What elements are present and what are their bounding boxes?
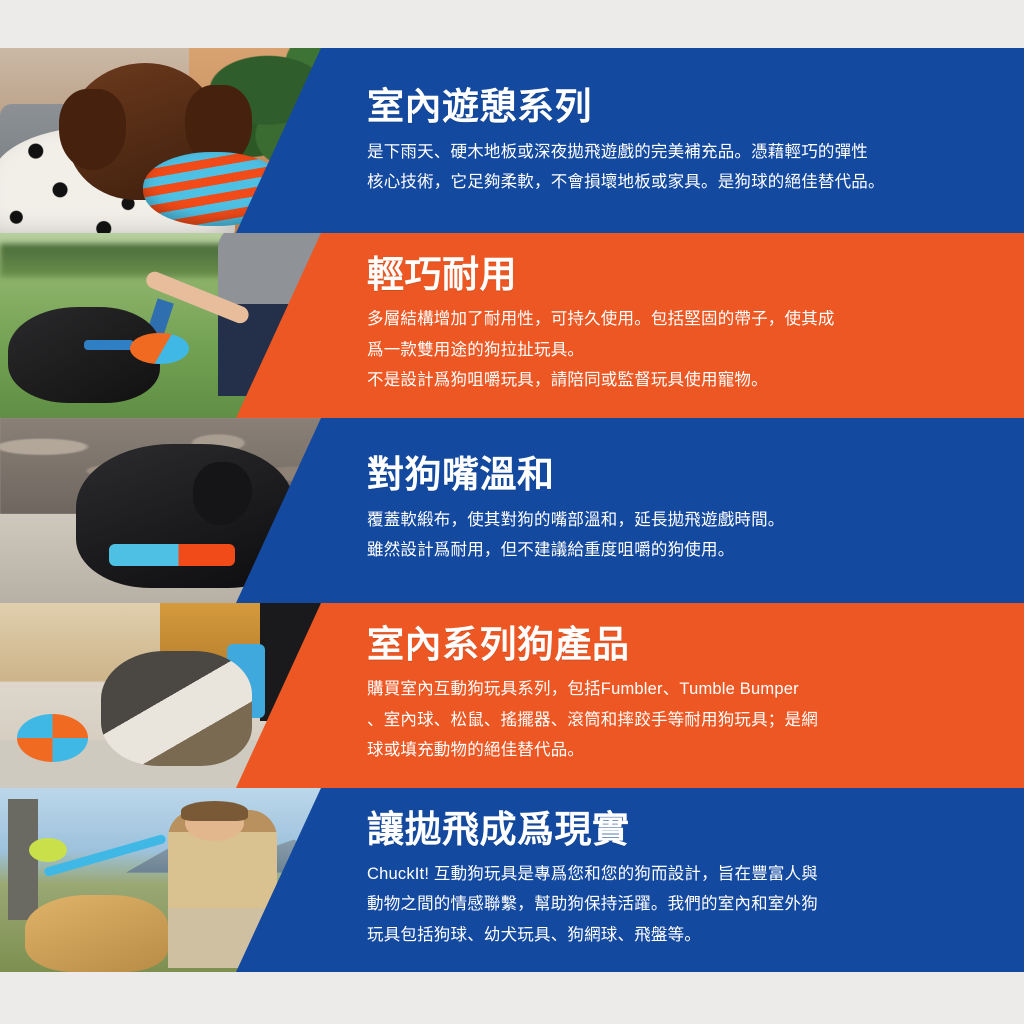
feature-content-indoor-series-dog-products: 室內系列狗產品 購買室內互動狗玩具系列，包括Fumbler、Tumble Bum…: [345, 603, 1006, 788]
feature-body: 是下雨天、硬木地板或深夜拋飛遊戲的完美補充品。憑藉輕巧的彈性 核心技術，它足夠柔…: [367, 137, 1006, 198]
feature-body-line: 核心技術，它足夠柔軟，不會損壞地板或家具。是狗球的絕佳替代品。: [367, 167, 1006, 198]
feature-body: ChuckIt! 互動狗玩具是專爲您和您的狗而設計，旨在豐富人與 動物之間的情感…: [367, 859, 1006, 951]
feature-body-line: ChuckIt! 互動狗玩具是專爲您和您的狗而設計，旨在豐富人與: [367, 859, 1006, 890]
feature-panel-list: 室內遊憩系列 是下雨天、硬木地板或深夜拋飛遊戲的完美補充品。憑藉輕巧的彈性 核心…: [0, 48, 1024, 972]
feature-content-gentle-on-mouth: 對狗嘴溫和 覆蓋軟緞布，使其對狗的嘴部溫和，延長拋飛遊戲時間。 雖然設計爲耐用，…: [345, 418, 1006, 603]
feature-title: 讓拋飛成爲現實: [367, 810, 1006, 849]
feature-body-line: 覆蓋軟緞布，使其對狗的嘴部溫和，延長拋飛遊戲時間。: [367, 505, 1006, 536]
feature-body: 購買室內互動狗玩具系列，包括Fumbler、Tumble Bumper 、室內球…: [367, 674, 1006, 766]
feature-title: 室內系列狗產品: [367, 625, 1006, 664]
feature-title: 輕巧耐用: [367, 255, 1006, 294]
feature-row-gentle-on-mouth: 對狗嘴溫和 覆蓋軟緞布，使其對狗的嘴部溫和，延長拋飛遊戲時間。 雖然設計爲耐用，…: [0, 418, 1024, 603]
feature-content-lightweight-durable: 輕巧耐用 多層結構增加了耐用性，可持久使用。包括堅固的帶子，使其成 爲一款雙用途…: [345, 233, 1006, 418]
feature-body-line: 不是設計爲狗咀嚼玩具，請陪同或監督玩具使用寵物。: [367, 365, 1006, 396]
feature-title: 室內遊憩系列: [367, 87, 1006, 126]
feature-body: 多層結構增加了耐用性，可持久使用。包括堅固的帶子，使其成 爲一款雙用途的狗拉扯玩…: [367, 304, 1006, 396]
feature-row-indoor-series-dog-products: 室內系列狗產品 購買室內互動狗玩具系列，包括Fumbler、Tumble Bum…: [0, 603, 1024, 788]
feature-content-indoor-play-series: 室內遊憩系列 是下雨天、硬木地板或深夜拋飛遊戲的完美補充品。憑藉輕巧的彈性 核心…: [345, 48, 1006, 233]
feature-row-lightweight-durable: 輕巧耐用 多層結構增加了耐用性，可持久使用。包括堅固的帶子，使其成 爲一款雙用途…: [0, 233, 1024, 418]
feature-body-line: 爲一款雙用途的狗拉扯玩具。: [367, 335, 1006, 366]
feature-body-line: 、室內球、松鼠、搖擺器、滾筒和摔跤手等耐用狗玩具；是網: [367, 705, 1006, 736]
feature-body-line: 多層結構增加了耐用性，可持久使用。包括堅固的帶子，使其成: [367, 304, 1006, 335]
feature-content-make-fetch-real: 讓拋飛成爲現實 ChuckIt! 互動狗玩具是專爲您和您的狗而設計，旨在豐富人與…: [345, 788, 1006, 972]
feature-body-line: 玩具包括狗球、幼犬玩具、狗網球、飛盤等。: [367, 920, 1006, 951]
feature-body-line: 購買室內互動狗玩具系列，包括Fumbler、Tumble Bumper: [367, 674, 1006, 705]
feature-body-line: 雖然設計爲耐用，但不建議給重度咀嚼的狗使用。: [367, 535, 1006, 566]
feature-row-indoor-play-series: 室內遊憩系列 是下雨天、硬木地板或深夜拋飛遊戲的完美補充品。憑藉輕巧的彈性 核心…: [0, 48, 1024, 233]
feature-body: 覆蓋軟緞布，使其對狗的嘴部溫和，延長拋飛遊戲時間。 雖然設計爲耐用，但不建議給重…: [367, 505, 1006, 566]
feature-body-line: 動物之間的情感聯繫，幫助狗保持活躍。我們的室內和室外狗: [367, 889, 1006, 920]
feature-row-make-fetch-real: 讓拋飛成爲現實 ChuckIt! 互動狗玩具是專爲您和您的狗而設計，旨在豐富人與…: [0, 788, 1024, 972]
feature-body-line: 是下雨天、硬木地板或深夜拋飛遊戲的完美補充品。憑藉輕巧的彈性: [367, 137, 1006, 168]
feature-title: 對狗嘴溫和: [367, 455, 1006, 494]
feature-body-line: 球或填充動物的絕佳替代品。: [367, 735, 1006, 766]
